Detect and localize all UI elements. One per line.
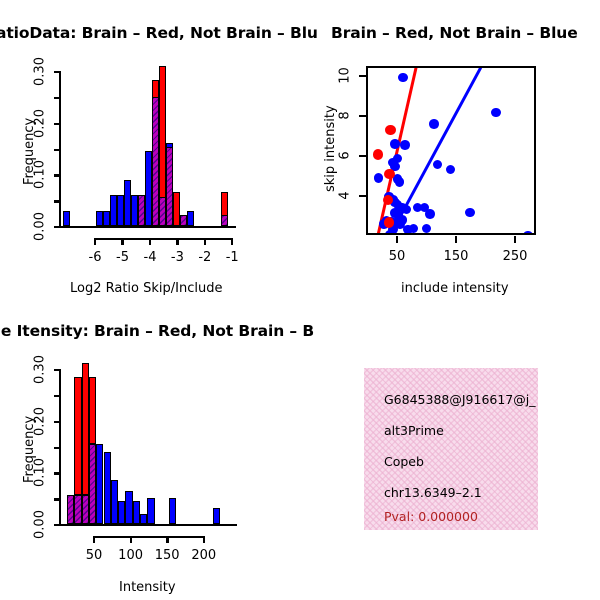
ratio-bar: [152, 80, 159, 98]
ratio-histogram-xaxis: [94, 238, 232, 240]
ratio-ytick-015: [54, 149, 60, 151]
ratio-ytick-020: [54, 123, 60, 125]
figure-canvas: atioData: Brain – Red, Not Brain – Blu F…: [0, 0, 600, 600]
ratio-xtick--2: [204, 238, 206, 245]
panel-intensity-histogram: ne Itensity: Brain – Red, Not Brain – B …: [0, 300, 300, 600]
ratio-bar: [152, 97, 159, 226]
info-gene-symbol: Copeb: [384, 454, 424, 469]
intensity-ytick-label-020: 0.20: [33, 403, 48, 441]
ratio-ytick-label-010: 0.10: [33, 156, 48, 194]
ratio-bar: [166, 143, 173, 148]
intensity-bar: [96, 444, 103, 524]
scatter-ylabel: skip intensity: [323, 105, 338, 192]
intensity-ytick-label-010: 0.10: [33, 454, 48, 492]
ratio-ytick-label-020: 0.20: [33, 105, 48, 143]
ratio-bar: [124, 180, 131, 227]
intensity-bar: [118, 501, 125, 524]
ratio-xtick-label--3: -3: [162, 250, 192, 265]
ratio-bar: [159, 197, 166, 226]
ratio-bar: [180, 215, 187, 226]
intensity-ytick-label-030: 0.30: [33, 351, 48, 389]
scatter-ytick-10: [359, 75, 366, 77]
intensity-xtick-label-100: 100: [116, 548, 146, 563]
intensity-xtick-200: [203, 536, 205, 543]
intensity-xtick-150: [166, 536, 168, 543]
intensity-histogram-xaxis: [93, 536, 204, 538]
ratio-ytick-005: [54, 200, 60, 202]
ratio-bar: [166, 143, 173, 226]
ratio-xtick--3: [176, 238, 178, 245]
intensity-ytick-025: [54, 395, 60, 397]
ratio-xtick--4: [149, 238, 151, 245]
panel-scatter: Brain – Red, Not Brain – Blue skip inten…: [300, 0, 600, 305]
ratio-bar: [103, 211, 110, 227]
ratio-xtick-label--1: -1: [217, 250, 247, 265]
intensity-bar: [82, 495, 89, 524]
intensity-ytick-005: [54, 498, 60, 500]
info-event-type: alt3Prime: [384, 423, 444, 438]
intensity-ytick-015: [54, 447, 60, 449]
intensity-bar: [133, 501, 140, 524]
intensity-ytick-label-000: 0.00: [33, 506, 48, 544]
scatter-ytick-6: [359, 155, 366, 157]
scatter-title: Brain – Red, Not Brain – Blue: [331, 24, 578, 42]
gene-info-box: G6845388@J916617@j_ alt3Prime Copeb chr1…: [364, 368, 538, 530]
intensity-histogram-title: ne Itensity: Brain – Red, Not Brain – B: [0, 322, 314, 340]
info-gene-id: G6845388@J916617@j_: [384, 392, 535, 407]
intensity-ytick-030: [54, 369, 60, 371]
intensity-bar: [104, 452, 111, 525]
intensity-bar: [74, 495, 81, 524]
panel-ratio-histogram: atioData: Brain – Red, Not Brain – Blu F…: [0, 0, 300, 305]
ratio-xtick-label--2: -2: [190, 250, 220, 265]
info-locus: chr13.6349–2.1: [384, 485, 482, 500]
scatter-plot-frame: [366, 66, 536, 235]
ratio-histogram-title: atioData: Brain – Red, Not Brain – Blu: [0, 24, 318, 42]
scatter-ytick-label-4: 4: [338, 184, 353, 208]
ratio-bar: [110, 195, 117, 226]
scatter-xtick-50: [396, 236, 398, 243]
ratio-ytick-025: [54, 97, 60, 99]
intensity-bar: [74, 377, 81, 495]
intensity-bar: [82, 363, 89, 495]
intensity-ytick-020: [54, 421, 60, 423]
intensity-xtick-100: [130, 536, 132, 543]
ratio-bar: [63, 211, 70, 227]
scatter-xtick-label-250: 250: [500, 249, 530, 264]
intensity-bar: [89, 444, 96, 524]
scatter-ytick-8: [359, 115, 366, 117]
scatter-xtick-label-150: 150: [441, 249, 471, 264]
ratio-xtick-label--6: -6: [80, 250, 110, 265]
ratio-histogram-xlabel: Log2 Ratio Skip/Include: [70, 281, 222, 296]
info-pval: Pval: 0.000000: [384, 509, 478, 524]
ratio-histogram-baseline: [59, 226, 236, 228]
intensity-histogram-baseline: [59, 524, 237, 526]
scatter-ytick-label-6: 6: [338, 144, 353, 168]
ratio-xtick--6: [94, 238, 96, 245]
ratio-ytick-010: [54, 174, 60, 176]
intensity-bar: [140, 514, 147, 525]
ratio-xtick--5: [121, 238, 123, 245]
scatter-xtick-label-50: 50: [382, 249, 412, 264]
intensity-xtick-label-150: 150: [152, 548, 182, 563]
intensity-bar: [147, 498, 154, 524]
intensity-bar: [125, 491, 132, 525]
scatter-xtick-150: [455, 236, 457, 243]
scatter-xlabel: include intensity: [401, 281, 509, 296]
intensity-ytick-010: [54, 472, 60, 474]
intensity-bar: [67, 495, 74, 524]
ratio-ytick-label-030: 0.30: [33, 53, 48, 91]
intensity-xtick-label-50: 50: [79, 548, 109, 563]
scatter-ytick-label-8: 8: [338, 104, 353, 128]
scatter-ytick-label-10: 10: [338, 64, 353, 88]
ratio-bar: [187, 211, 194, 227]
ratio-bar: [117, 195, 124, 226]
intensity-bar: [169, 498, 176, 524]
ratio-bar: [173, 192, 180, 226]
ratio-xtick--1: [231, 238, 233, 245]
scatter-xtick-250: [514, 236, 516, 243]
intensity-bar: [111, 480, 118, 524]
intensity-histogram-xlabel: Intensity: [119, 580, 176, 595]
scatter-ytick-4: [359, 195, 366, 197]
intensity-bar: [213, 508, 220, 524]
ratio-ytick-label-000: 0.00: [33, 208, 48, 246]
ratio-bar: [138, 195, 145, 226]
ratio-ytick-030: [54, 71, 60, 73]
ratio-xtick-label--5: -5: [108, 250, 138, 265]
intensity-bar: [89, 377, 96, 444]
ratio-bar: [96, 211, 103, 227]
ratio-bar: [131, 195, 138, 226]
intensity-xtick-label-200: 200: [189, 548, 219, 563]
ratio-bar: [145, 151, 152, 226]
intensity-xtick-50: [93, 536, 95, 543]
ratio-xtick-label--4: -4: [135, 250, 165, 265]
ratio-bar: [221, 215, 228, 226]
